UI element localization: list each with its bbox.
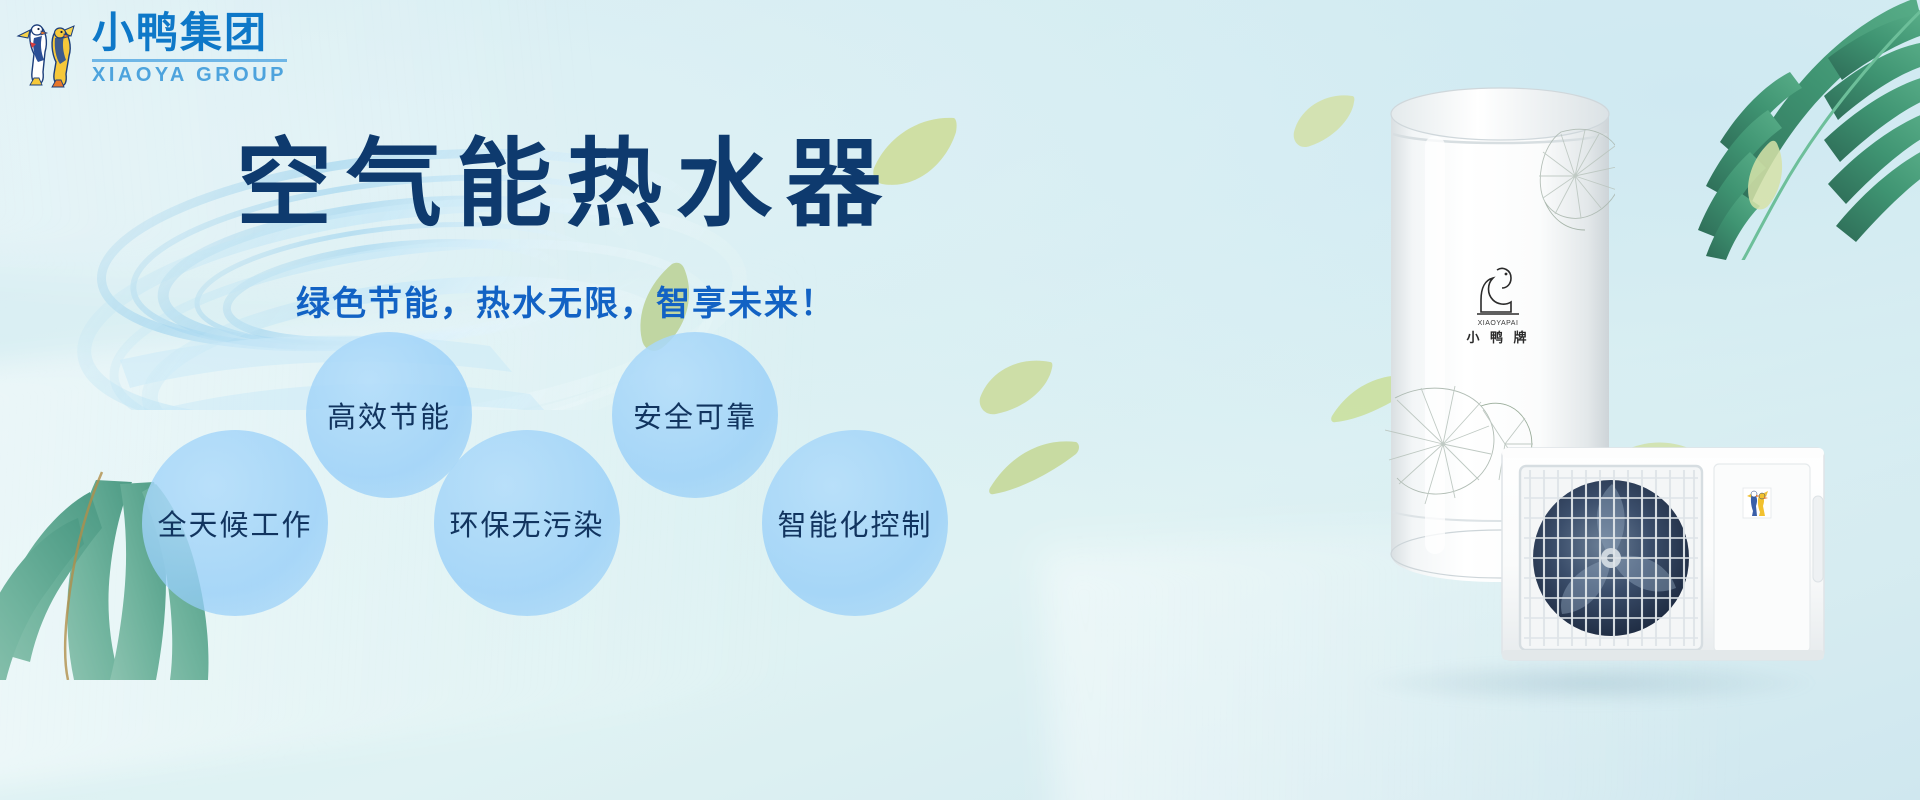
feature-label: 环保无污染 — [449, 502, 604, 544]
hero-title: 空气能热水器 — [236, 134, 896, 236]
small-leaf-icon-4 — [988, 438, 1080, 496]
air-source-water-heater-banner: 小鸭集团 XIAOYA GROUP 空气能热水器 绿色节能，热水无限，智享未来！… — [0, 0, 1920, 800]
feature-bubble-smart[interactable]: 智能化控制 — [762, 430, 948, 616]
brand-logo-text: 小鸭集团 XIAOYA GROUP — [92, 12, 287, 85]
hero-title-block: 空气能热水器 — [236, 134, 896, 236]
hero-subtitle: 绿色节能，热水无限，智享未来！ — [296, 276, 836, 325]
tank-brand-cn: 小 鸭 牌 — [1466, 330, 1529, 346]
feature-bubble-safe[interactable]: 安全可靠 — [612, 332, 778, 498]
brand-divider — [92, 59, 287, 62]
feature-label: 安全可靠 — [633, 394, 757, 436]
outdoor-unit-duck-sticker-icon — [1743, 488, 1771, 518]
brand-logo[interactable]: 小鸭集团 XIAOYA GROUP — [14, 8, 287, 88]
feature-label: 智能化控制 — [777, 502, 932, 544]
product-group: XIAOYAPAI 小 鸭 牌 — [1320, 60, 1920, 720]
heat-pump-outdoor-unit — [1500, 440, 1830, 670]
feature-label: 高效节能 — [327, 394, 451, 436]
feature-label: 全天候工作 — [157, 502, 312, 544]
feature-bubble-ecofriendly[interactable]: 环保无污染 — [434, 430, 620, 616]
brand-name-cn: 小鸭集团 — [92, 12, 287, 54]
brand-name-en: XIAOYA GROUP — [92, 65, 287, 85]
feature-bubble-allweather[interactable]: 全天候工作 — [142, 430, 328, 616]
tank-brand-en: XIAOYAPAI — [1478, 320, 1519, 327]
small-leaf-icon-3 — [978, 354, 1054, 428]
two-duck-mascot-logo-icon — [14, 8, 82, 88]
